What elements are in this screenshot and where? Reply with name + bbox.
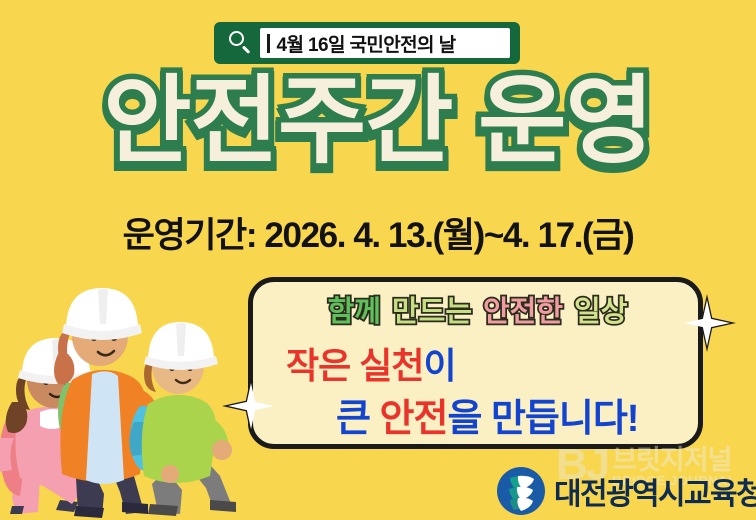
footer-logo-text: 대전광역시교육청 xyxy=(554,469,756,513)
daejeon-education-emblem-icon xyxy=(496,466,546,516)
slogan-line-3: 큰 안전을 만듭니다! xyxy=(336,387,638,442)
slogan-line-2: 작은 실천이 xyxy=(286,337,456,389)
text-caret xyxy=(267,34,270,53)
footer-logo: 대전광역시교육청 xyxy=(496,466,756,516)
slogan-word-1: 함께 xyxy=(328,296,381,328)
slogan-word-4: 일상 xyxy=(574,296,627,328)
search-input[interactable]: 4월 16일 국민안전의 날 xyxy=(260,28,510,58)
operating-period-text: 운영기간: 2026. 4. 13.(월)~4. 17.(금) xyxy=(0,207,756,258)
search-icon xyxy=(228,30,254,56)
page-title: 안전주간 운영 xyxy=(0,74,756,170)
slogan-word-2: 만드는 xyxy=(392,296,472,328)
poster-canvas: 4월 16일 국민안전의 날 안전주간 운영 안전주간 운영 운영기간: 202… xyxy=(0,0,756,520)
search-input-value: 4월 16일 국민안전의 날 xyxy=(277,30,456,57)
slogan-line-1: 함께만드는안전한일상 xyxy=(278,288,688,330)
slogan-word-3: 안전한 xyxy=(483,296,563,328)
slogan-l2-part-2: 이 xyxy=(423,345,455,386)
slogan-l2-part-1: 작은 실천 xyxy=(286,345,423,386)
illustration-students-teacher xyxy=(0,262,268,520)
slogan-l3-part-3: 을 만듭니다! xyxy=(447,398,638,440)
slogan-l3-part-1: 큰 xyxy=(336,398,380,440)
slogan-l3-part-2: 안전 xyxy=(380,398,448,440)
search-bar[interactable]: 4월 16일 국민안전의 날 xyxy=(214,22,520,64)
figure-boy xyxy=(129,322,236,516)
